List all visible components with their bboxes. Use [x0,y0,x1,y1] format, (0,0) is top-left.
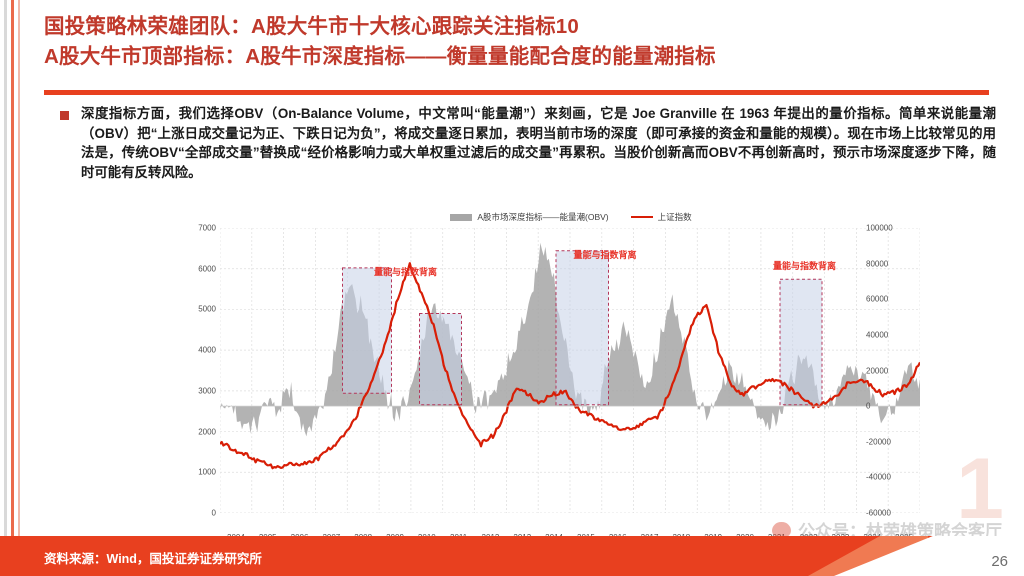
divergence-box-4 [420,314,462,405]
y-tick-right: 80000 [866,259,922,268]
y-tick-right: 40000 [866,330,922,339]
y-tick-right: 20000 [866,366,922,375]
accent-bar-red [11,0,14,576]
y-tick-left: 0 [170,509,216,518]
divergence-box-2 [556,251,609,405]
y-tick-right: 60000 [866,295,922,304]
y-tick-right: -40000 [866,473,922,482]
divergence-box-1 [343,268,392,393]
page-title-line2: A股大牛市顶部指标：A股牛市深度指标——衡量量能配合度的能量潮指标 [44,42,1004,72]
legend-item-obv: A股市场深度指标——能量潮(OBV) [450,211,608,223]
legend-label-index: 上证指数 [658,211,692,223]
legend-item-index: 上证指数 [631,211,692,223]
y-tick-left: 1000 [170,468,216,477]
y-tick-left: 4000 [170,346,216,355]
chart-plot-area: 01000200030004000500060007000 -60000-400… [176,228,966,528]
legend-label-obv: A股市场深度指标——能量潮(OBV) [477,211,608,223]
divergence-label-1: 量能与指数背离 [374,265,437,278]
source-note: 资料来源：Wind，国投证券证券研究所 [44,548,262,567]
page-title-line1: 国投策略林荣雄团队：A股大牛市十大核心跟踪关注指标10 [44,12,1004,42]
accent-bar-grey [4,0,7,576]
divergence-label-2: 量能与指数背离 [573,248,636,261]
legend-swatch-line-icon [631,216,653,219]
y-tick-right: 0 [866,402,922,411]
left-accent-bars [0,0,26,576]
bullet-square-icon [60,111,69,120]
y-tick-left: 2000 [170,427,216,436]
y-tick-left: 6000 [170,264,216,273]
page-number: 26 [991,553,1008,570]
y-tick-left: 3000 [170,386,216,395]
y-tick-right: 100000 [866,224,922,233]
legend-swatch-area-icon [450,214,472,221]
slide-header: 国投策略林荣雄团队：A股大牛市十大核心跟踪关注指标10 A股大牛市顶部指标：A股… [44,12,1004,72]
body-bullet-block: 深度指标方面，我们选择OBV（On-Balance Volume，中文常叫“能量… [60,104,1000,182]
title-underline-rule [44,90,989,95]
chart-container: A股市场深度指标——能量潮(OBV) 上证指数 0100020003000400… [176,208,966,538]
y-tick-right: -20000 [866,437,922,446]
body-paragraph: 深度指标方面，我们选择OBV（On-Balance Volume，中文常叫“能量… [81,104,996,182]
chart-legend: A股市场深度指标——能量潮(OBV) 上证指数 [176,208,966,226]
divergence-label-3: 量能与指数背离 [773,259,836,272]
y-tick-left: 7000 [170,224,216,233]
accent-bar-light [18,0,20,576]
y-tick-left: 5000 [170,305,216,314]
